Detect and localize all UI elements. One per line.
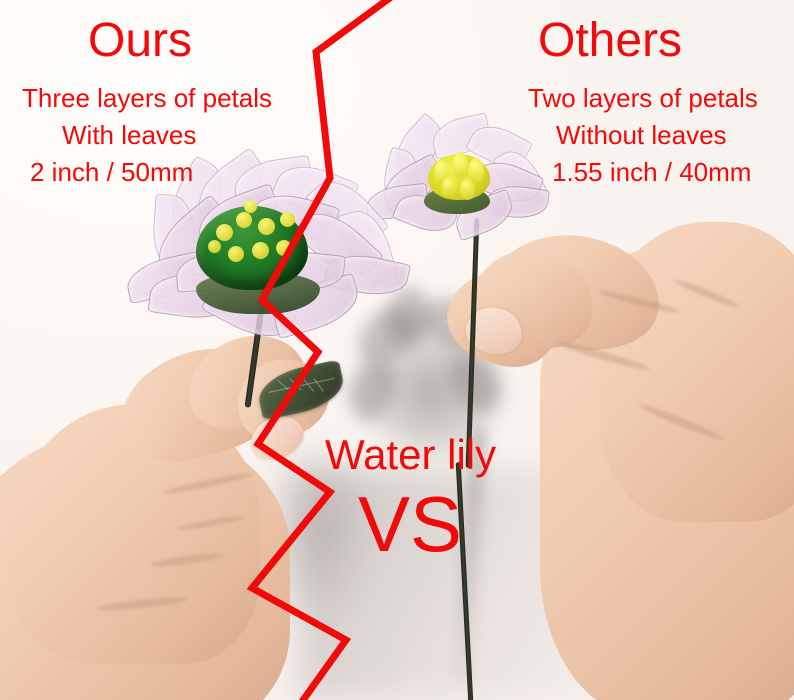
stamen <box>276 240 292 256</box>
left-line-1: Three layers of petals <box>22 85 272 111</box>
left-line-3: 2 inch / 50mm <box>30 159 193 185</box>
stamen <box>228 246 244 262</box>
versus-label: VS <box>358 485 462 563</box>
right-heading: Others <box>538 17 682 65</box>
left-heading: Ours <box>88 17 192 65</box>
stamen <box>442 176 457 198</box>
right-line-2: Without leaves <box>556 122 727 148</box>
right-line-1: Two layers of petals <box>528 85 758 111</box>
stamen <box>460 178 475 200</box>
stamen <box>208 240 221 253</box>
stamen <box>452 152 468 178</box>
stamen <box>236 212 252 228</box>
product-name: Water lily <box>325 434 496 476</box>
comparison-image: Ours Three layers of petals With leaves … <box>0 0 794 700</box>
right-line-3: 1.55 inch / 40mm <box>552 159 751 185</box>
stamen <box>216 224 233 241</box>
stamen <box>258 218 275 235</box>
stamen <box>244 200 257 213</box>
left-line-2: With leaves <box>62 122 196 148</box>
stamen <box>252 242 269 259</box>
stamen <box>280 212 295 227</box>
